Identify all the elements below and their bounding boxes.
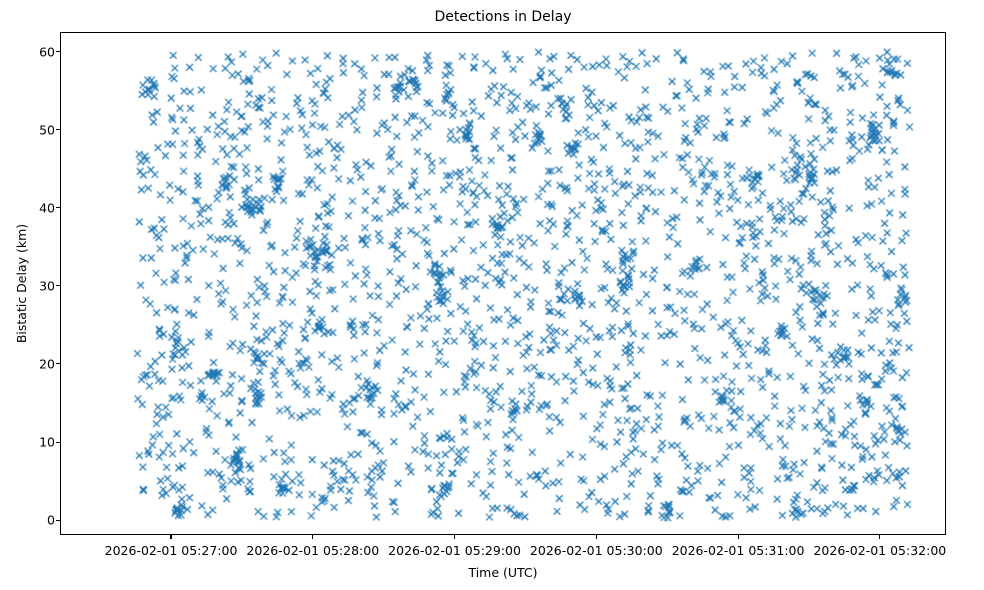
- y-tick-label: 60: [39, 44, 55, 59]
- x-tick-label: 2026-02-01 05:32:00: [813, 543, 946, 558]
- y-tick-mark: [56, 129, 60, 130]
- y-tick-label: 50: [39, 122, 55, 137]
- x-tick-mark: [312, 535, 313, 539]
- y-tick-label: 0: [47, 513, 55, 528]
- x-axis-label: Time (UTC): [60, 565, 946, 581]
- x-tick-mark: [738, 535, 739, 539]
- x-tick-mark: [596, 535, 597, 539]
- matplotlib-figure: Detections in Delay 2026-02-01 05:27:002…: [0, 0, 984, 590]
- scatter-series: [61, 33, 945, 534]
- y-tick-mark: [56, 51, 60, 52]
- y-tick-mark: [56, 442, 60, 443]
- x-tick-label: 2026-02-01 05:30:00: [530, 543, 663, 558]
- x-tick-mark: [879, 535, 880, 539]
- y-tick-mark: [56, 285, 60, 286]
- y-tick-label: 10: [39, 435, 55, 450]
- x-tick-label: 2026-02-01 05:31:00: [672, 543, 805, 558]
- y-tick-mark: [56, 363, 60, 364]
- x-tick-mark: [170, 535, 171, 539]
- page-title: Detections in Delay: [60, 8, 946, 26]
- y-tick-label: 40: [39, 200, 55, 215]
- x-tick-label: 2026-02-01 05:27:00: [105, 543, 238, 558]
- plot-axes: [60, 32, 946, 535]
- y-tick-label: 30: [39, 278, 55, 293]
- x-tick-mark: [454, 535, 455, 539]
- x-tick-label: 2026-02-01 05:29:00: [388, 543, 521, 558]
- x-tick-label: 2026-02-01 05:28:00: [246, 543, 379, 558]
- y-axis-label: Bistatic Delay (km): [14, 32, 30, 535]
- y-tick-mark: [56, 520, 60, 521]
- y-tick-mark: [56, 207, 60, 208]
- y-tick-label: 20: [39, 356, 55, 371]
